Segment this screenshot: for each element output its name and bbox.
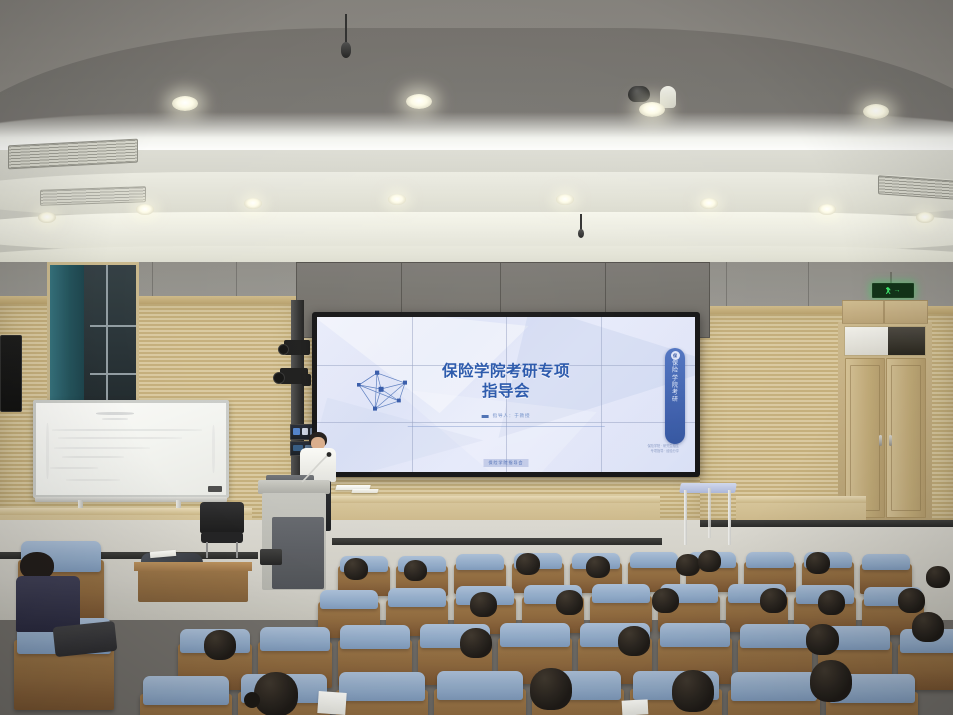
exit-sign: → — [872, 283, 914, 298]
audience-member-head — [806, 552, 830, 574]
audience-member-head — [676, 554, 700, 576]
slide-title: 保险学院考研专项 指导会 — [442, 362, 570, 402]
slide-corner-note-line2: 专项指导 · 经验分享 — [647, 449, 679, 454]
ceiling-downlight — [38, 212, 56, 223]
ceiling-downlight — [916, 212, 934, 223]
wall-monitor — [0, 335, 22, 412]
running-person-icon — [886, 287, 892, 294]
exit-sign-label: → — [894, 287, 901, 294]
audience-member-head — [898, 588, 925, 613]
door-handle-left[interactable] — [879, 435, 882, 446]
side-table-leg-1 — [684, 490, 687, 545]
wall-cabinet-above-door-2 — [884, 300, 928, 324]
front-wood-desk-top — [134, 562, 252, 571]
door-handle-right[interactable] — [889, 435, 892, 446]
office-chair[interactable] — [200, 502, 244, 558]
slide-title-line1: 保险学院考研专项 — [442, 362, 570, 382]
handout-paper — [317, 691, 346, 715]
audience-member-head — [912, 612, 944, 642]
video-wall-display: 保险学院考研专项 指导会 指导人：于教授 保险学院 · 研究生招生 专项指导 ·… — [317, 317, 695, 472]
wood-wall-trim-left — [0, 296, 300, 304]
ceiling-downlight — [388, 194, 406, 205]
audience-member-head — [818, 590, 845, 615]
audience-member-head — [404, 560, 427, 581]
ceiling-downlight — [818, 204, 836, 215]
ceiling-downlight — [136, 204, 154, 215]
audience-hair-bun — [244, 692, 260, 708]
badge-char-5: 考 — [672, 390, 678, 396]
audience-member-head — [460, 628, 492, 658]
side-table-leg-3 — [708, 488, 711, 538]
seat[interactable] — [728, 690, 820, 715]
podium-body — [262, 493, 326, 590]
door-transom-window — [844, 326, 926, 356]
slide-subtitle: 指导人：于教授 — [493, 413, 531, 419]
podium — [258, 480, 330, 590]
lecture-hall-photograph: → — [0, 0, 953, 715]
audience-member-head — [810, 660, 852, 702]
badge-logo-dot: 保 — [671, 351, 680, 360]
wall-cabinet-above-door — [842, 300, 884, 324]
podium-gooseneck-microphone — [300, 452, 336, 484]
slide-bullet-icon — [482, 415, 489, 418]
camera-body-extension — [302, 374, 311, 386]
podium-papers-2 — [351, 489, 378, 493]
microphone-capsule — [341, 42, 351, 58]
badge-char-3: 学 — [672, 376, 678, 382]
office-chair-leg-2 — [236, 542, 238, 558]
slide-vertical-badge: 保 保 险 学 院 考 研 — [665, 348, 685, 444]
audience-member-head — [652, 588, 679, 613]
audience-member-head — [760, 588, 787, 613]
led-video-wall[interactable]: 保险学院考研专项 指导会 指导人：于教授 保险学院 · 研究生招生 专项指导 ·… — [312, 312, 700, 477]
floor-speaker-box — [260, 549, 282, 565]
seat[interactable] — [434, 689, 526, 715]
ceiling-downlight — [556, 194, 574, 205]
front-wood-desk — [138, 568, 248, 602]
audience-member-left — [16, 552, 98, 662]
audience-member-head — [530, 668, 572, 710]
window-mullion-h — [90, 325, 136, 327]
badge-char-6: 研 — [672, 397, 678, 403]
ceiling-downlight — [700, 198, 718, 209]
hanging-microphone-2 — [580, 214, 582, 230]
window-mullion-v — [106, 265, 108, 411]
floor-baseboard-right — [700, 520, 953, 527]
slide-divider-rule — [408, 426, 605, 427]
audience-member-head — [344, 558, 368, 580]
ceiling-downlight — [863, 104, 889, 119]
audience-member-head — [926, 566, 950, 588]
window-mullion-h2 — [90, 373, 136, 375]
audience-member-head — [204, 630, 236, 660]
window-curtain — [50, 265, 84, 411]
slide-footer-bar: 保险学院指导会 — [484, 459, 529, 467]
office-chair-back — [200, 502, 244, 533]
seat[interactable] — [336, 690, 428, 715]
hanging-microphone — [345, 14, 347, 44]
audience-member-head — [516, 553, 540, 575]
slide-title-line2: 指导会 — [442, 382, 570, 402]
audience-member-head — [470, 592, 497, 617]
door-leaf-left[interactable] — [845, 358, 885, 518]
panel-seam-h2 — [317, 422, 695, 423]
audience-member-head — [556, 590, 583, 615]
ceiling-downlight — [639, 102, 665, 117]
camera-lens-upper — [278, 344, 289, 355]
audience-left-jacket — [16, 576, 80, 632]
window — [47, 262, 139, 414]
network-nodes-icon — [351, 367, 419, 413]
audience-member-head — [586, 556, 610, 578]
door-panel-inset — [891, 365, 921, 511]
badge-char-1: 保 — [672, 361, 678, 367]
ceiling-downlight — [406, 94, 432, 109]
panel-seam-v1 — [412, 317, 413, 472]
audience-member-head — [254, 672, 298, 715]
audience-member-head — [672, 670, 714, 712]
ceiling-downlight — [172, 96, 198, 111]
dome-security-camera-icon — [628, 86, 650, 102]
whiteboard — [33, 400, 229, 498]
audience-member-head — [698, 550, 721, 572]
whiteboard-tray — [35, 497, 227, 502]
panel-seam-v3 — [601, 317, 602, 472]
door-panel-inset — [850, 365, 880, 511]
badge-char-4: 院 — [672, 383, 678, 389]
audience-member-head — [806, 624, 839, 655]
side-table-leg-2 — [728, 490, 731, 545]
office-chair-leg-1 — [206, 542, 208, 558]
camera-lens-lower — [273, 372, 285, 384]
slide-subtitle-row: 指导人：于教授 — [482, 413, 531, 419]
badge-char-2: 险 — [672, 368, 678, 374]
handout-paper-2 — [622, 699, 649, 715]
ceiling-downlight — [244, 198, 262, 209]
front-counter-lip-right — [736, 496, 866, 503]
slide-corner-note: 保险学院 · 研究生招生 专项指导 · 经验分享 — [647, 444, 679, 454]
front-counter-lip-center — [330, 496, 660, 503]
microphone-capsule-2 — [578, 229, 584, 238]
floor-baseboard-center — [332, 538, 662, 545]
audience-member-head — [618, 626, 650, 656]
seat[interactable] — [140, 694, 232, 715]
door-leaf-right[interactable] — [886, 358, 926, 518]
double-door[interactable] — [838, 322, 932, 522]
